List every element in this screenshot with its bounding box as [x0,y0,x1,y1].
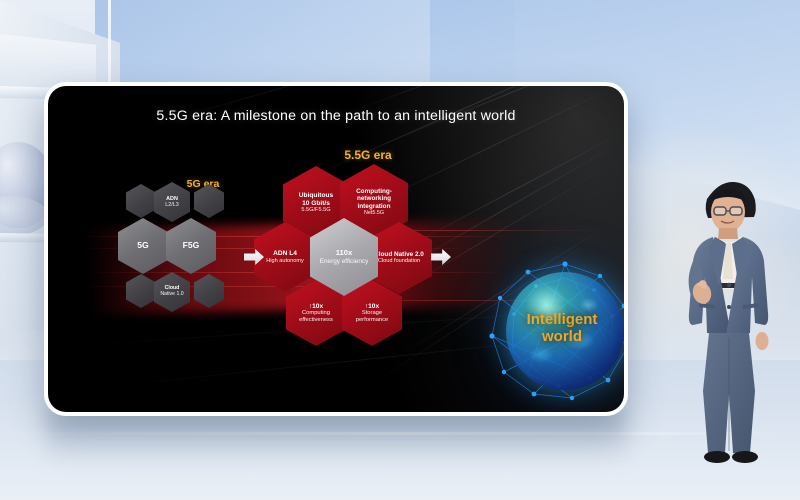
hex-adn-l4-title: ADN L4 [273,250,297,258]
hex-storage-performance-subtitle: Storageperformance [356,310,389,323]
hex-computing-effectiveness-subtitle: Computingeffectiveness [299,310,333,323]
presentation-display[interactable]: 5.5G era: A milestone on the path to an … [44,82,628,416]
intelligent-world-visual: Intelligent world [482,260,624,412]
hex-cloud-native-2-title: Cloud Native 2.0 [374,251,424,258]
hex-computing-effectiveness-title: ↑10x [309,303,323,311]
slide-canvas: 5.5G era: A milestone on the path to an … [48,86,624,412]
label-55g-era: 5.5G era [303,148,433,162]
hex-storage-performance-title: ↑10x [365,303,379,311]
hex-f5g-title: F5G [183,241,200,251]
hex-energy-efficiency-title: 110x [336,249,352,258]
hex-computing-networking-title: Computing-networkingintegration [356,188,392,210]
hex-cloud-native-subtitle: Native 1.0 [160,292,183,298]
hex-cloud-native-2-subtitle: Cloud foundation [378,258,420,264]
screen-floor-reflection [46,410,626,468]
intelligent-world-line1: Intelligent [482,312,624,329]
hex-5g-title: 5G [137,241,148,251]
presenter-figure [655,165,800,485]
hex-ubiquitous-subtitle: 5.5G/F5.5G [301,207,330,213]
hex-adn-subtitle: L2/L3 [165,202,179,208]
hex-energy-efficiency-subtitle: Energy efficiency [320,258,369,265]
slide-title: 5.5G era: A milestone on the path to an … [48,108,624,124]
hex-blank-tl [126,184,156,218]
hex-computing-networking-subtitle: Net5.5G [364,210,384,216]
intelligent-world-label: Intelligent world [482,312,624,346]
hex-adn-l4-subtitle: High autonomy [266,258,304,264]
hex-ubiquitous-title: Ubiquitous10 Gbit/s [299,192,333,207]
intelligent-world-line2: world [482,329,624,346]
